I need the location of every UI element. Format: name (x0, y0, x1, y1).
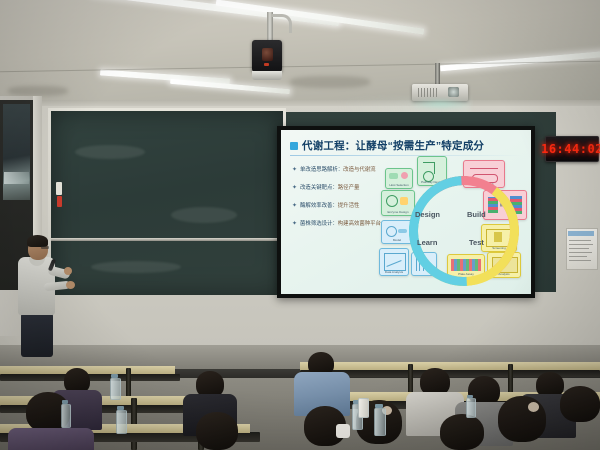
cycle-label-learn: Learn (417, 238, 437, 247)
bottle-cap (117, 406, 124, 410)
notice-line (569, 240, 591, 241)
chalk-piece (56, 182, 62, 195)
cycle-label-test: Test (469, 238, 484, 247)
ceiling-light-strip (216, 0, 425, 35)
lecturer-hand-right (66, 281, 75, 289)
student-body (8, 428, 94, 450)
student-face-mask (336, 424, 350, 438)
chalk-smudge (171, 207, 237, 223)
bullet-label: 单改造思路解析： (300, 167, 343, 173)
student-head (440, 414, 484, 450)
chalk-holder-red (57, 196, 62, 207)
lecture-hall-photo: 16:44:02 代谢工程：让酵母“按需生产”特定成分 ✦ 单改造思路解析：改造… (0, 0, 600, 450)
camera-base (252, 71, 282, 80)
student-head (196, 412, 238, 450)
bullet-value: 改造与代谢流 (343, 167, 375, 173)
notice-line (569, 248, 589, 249)
bottle-cap (111, 374, 118, 378)
slide-bullet-list: ✦ 单改造思路解析：改造与代谢流 ✦ 改造关键靶点：路径产量 ✦ 酶解效率改善：… (292, 166, 388, 238)
bullet-dot-icon: ✦ (292, 166, 297, 175)
projected-slide: 代谢工程：让酵母“按需生产”特定成分 ✦ 单改造思路解析：改造与代谢流 ✦ 改造… (281, 130, 531, 294)
list-item: ✦ 菌株筛选设计：构建高效菌种平台 (292, 220, 388, 229)
notice-header-bar (568, 231, 594, 236)
card-label: Model (382, 238, 412, 242)
camera-mount-arm (271, 14, 292, 33)
list-item: ✦ 改造关键靶点：路径产量 (292, 184, 388, 193)
water-bottle (116, 410, 127, 434)
projector-lens-icon (448, 87, 459, 97)
bottle-cap (375, 404, 383, 408)
bottle-cap (62, 400, 68, 404)
list-item: ✦ 酶解效率改善：提升活性 (292, 202, 388, 211)
bullet-label: 改造关键靶点： (300, 185, 338, 191)
card-label: Data Analysis (380, 270, 408, 274)
projector-vents (418, 88, 438, 97)
bullet-label: 酶解效率改善： (300, 203, 338, 209)
hair-tie-icon (528, 402, 539, 412)
lecturer-hand-left (64, 267, 72, 275)
learn-card-data: Data Analysis (379, 248, 409, 276)
bullet-dot-icon: ✦ (292, 202, 297, 211)
water-bottle (358, 398, 369, 418)
ceiling-light-strip (170, 79, 290, 94)
ceiling-stain (8, 86, 68, 96)
door-window-glare (4, 172, 29, 184)
water-bottle (61, 404, 71, 428)
notice-line (569, 256, 587, 257)
notice-line (569, 244, 593, 245)
bullet-value: 提升活性 (338, 203, 360, 209)
water-bottle (466, 398, 476, 418)
camera-led-icon (264, 63, 269, 66)
dbtl-cycle-diagram: Design Build Learn Test (409, 176, 501, 268)
cycle-label-design: Design (415, 210, 440, 219)
projector-mount-pole (435, 63, 440, 85)
chalk-smudge (91, 261, 181, 273)
student-head (560, 386, 600, 422)
slide-title: 代谢工程：让酵母“按需生产”特定成分 (302, 138, 484, 153)
projector-glow (408, 98, 472, 110)
ceiling-seam (0, 61, 600, 72)
bullet-dot-icon: ✦ (292, 220, 297, 229)
bottle-cap (467, 395, 473, 398)
title-underline (290, 155, 522, 156)
student-head (498, 396, 546, 442)
chalk-smudge (75, 145, 145, 159)
bullet-label: 菌株筛选设计： (300, 221, 338, 227)
door-window (3, 104, 30, 200)
slide-title-row: 代谢工程：让酵母“按需生产”特定成分 (290, 138, 484, 153)
title-bullet-icon (290, 142, 298, 150)
led-clock: 16:44:02 (545, 136, 599, 162)
water-bottle (110, 378, 121, 400)
camera-lens-icon (262, 48, 273, 61)
lecturer-legs (21, 313, 53, 357)
notice-line (569, 252, 592, 253)
list-item: ✦ 单改造思路解析：改造与代谢流 (292, 166, 388, 175)
chalk-rail (51, 238, 283, 241)
bullet-dot-icon: ✦ (292, 184, 297, 193)
bullet-value: 路径产量 (338, 185, 360, 191)
bullet-value: 构建高效菌种平台 (338, 221, 381, 227)
clock-time: 16:44:02 (541, 142, 600, 156)
cycle-label-build: Build (467, 210, 486, 219)
desk-row-back-rail (0, 374, 180, 381)
lecturer-glasses-icon (41, 246, 49, 249)
notice-line (569, 260, 591, 261)
ceiling-stain (290, 76, 370, 88)
water-bottle (374, 408, 386, 436)
blackboard-left (51, 111, 283, 295)
